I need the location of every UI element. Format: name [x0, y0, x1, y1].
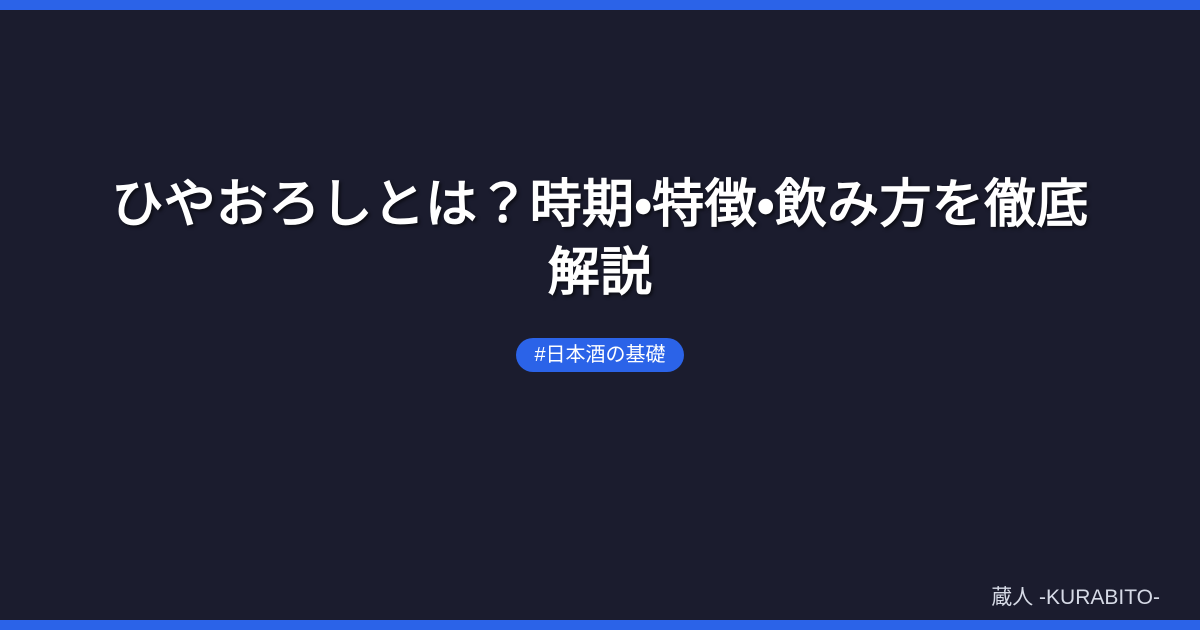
page-title: ひやおろしとは？時期・特徴・飲み方を徹底解説 — [100, 172, 1100, 307]
bottom-accent-bar — [0, 620, 1200, 630]
ogp-card: ひやおろしとは？時期・特徴・飲み方を徹底解説 #日本酒の基礎 蔵人 -KURAB… — [0, 0, 1200, 630]
tag-list: #日本酒の基礎 — [516, 338, 683, 372]
category-tag[interactable]: #日本酒の基礎 — [516, 338, 683, 372]
site-name: 蔵人 -KURABITO- — [991, 587, 1160, 608]
card-content: ひやおろしとは？時期・特徴・飲み方を徹底解説 #日本酒の基礎 — [0, 0, 1200, 630]
